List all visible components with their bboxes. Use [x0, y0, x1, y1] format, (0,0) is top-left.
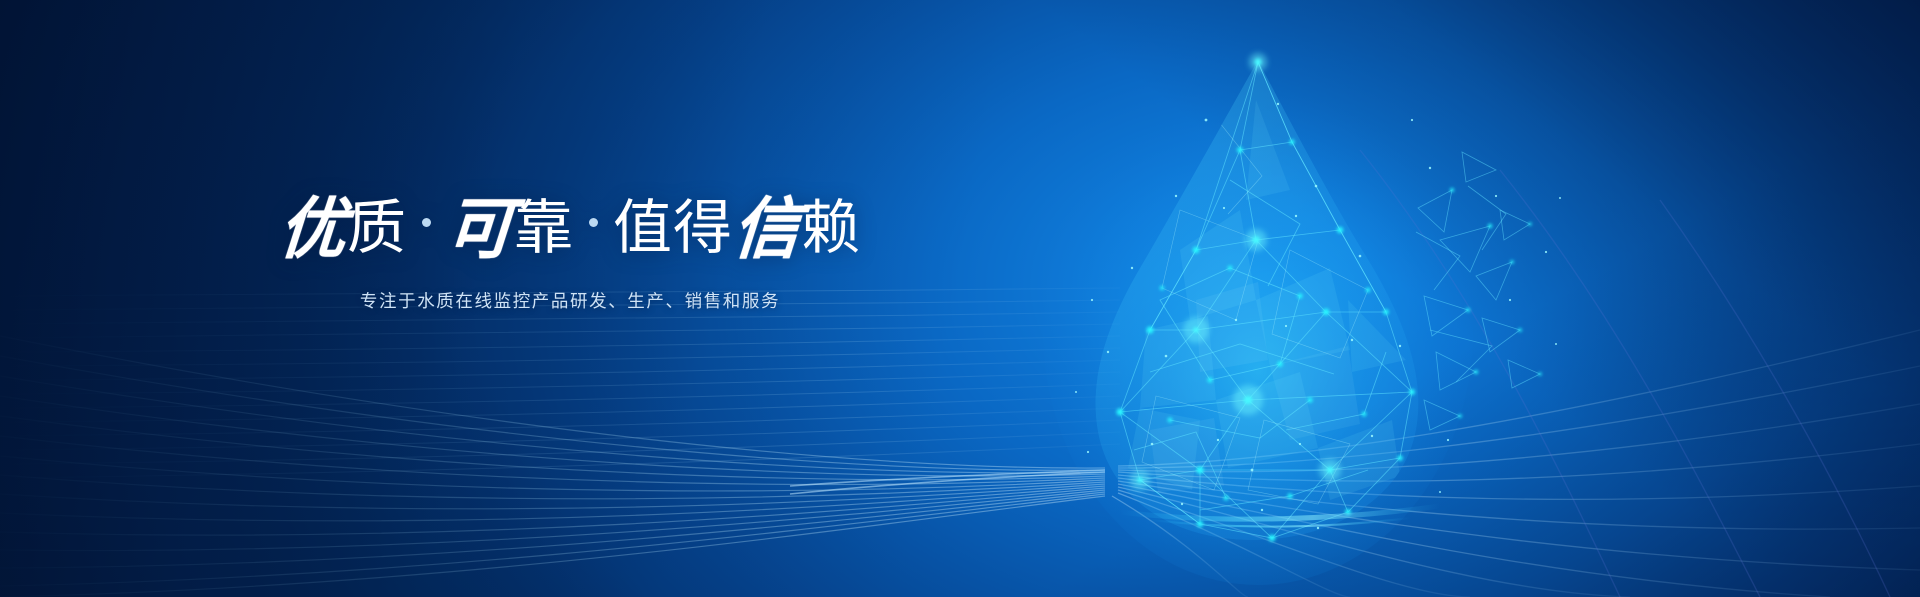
- headline-separator-dot-1: [422, 218, 431, 227]
- headline-char-lai: 赖: [801, 199, 861, 258]
- hero-text-block: 优 质 可 靠 值得 信 赖 专注于水质在线监控产品研发、生产、销售和服务: [0, 195, 1140, 313]
- headline-char-xin: 信: [731, 195, 804, 262]
- headline-char-ke: 可: [444, 195, 517, 262]
- hero-headline: 优 质 可 靠 值得 信 赖: [0, 195, 1140, 262]
- hero-subtitle: 专注于水质在线监控产品研发、生产、销售和服务: [0, 288, 1140, 313]
- headline-separator-dot-2: [589, 218, 598, 227]
- headline-word-zhide: 值得: [613, 199, 733, 258]
- hero-banner: 优 质 可 靠 值得 信 赖 专注于水质在线监控产品研发、生产、销售和服务: [0, 0, 1920, 597]
- headline-char-youa: 优: [277, 195, 350, 262]
- headline-char-zhi: 质: [347, 199, 407, 258]
- headline-char-kao: 靠: [514, 199, 574, 258]
